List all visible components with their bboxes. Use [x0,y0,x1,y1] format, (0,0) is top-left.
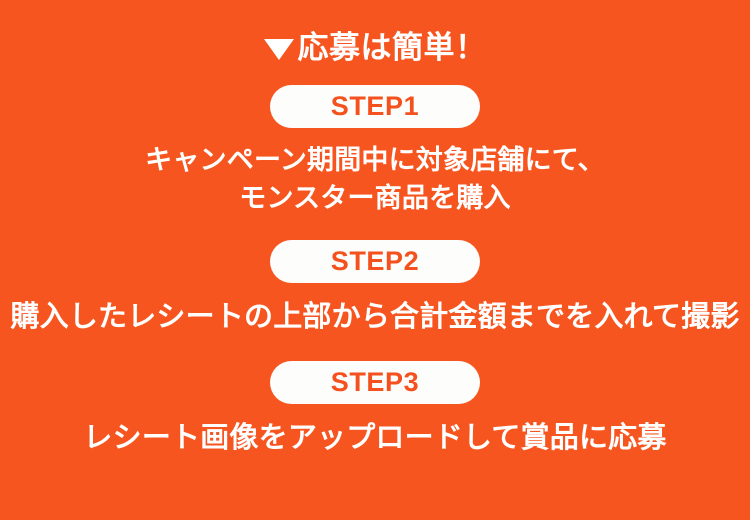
step-description-1: キャンペーン期間中に対象店舗にて、 モンスター商品を購入 [145,141,605,218]
step-description-2-line-1: 購入したレシートの上部から合計金額までを入れて撮影 [10,297,739,338]
page-heading-text: 応募は簡単！ [298,32,487,63]
step-block-2: STEP2 購入したレシートの上部から合計金額までを入れて撮影 [0,240,750,338]
page-heading: 応募は簡単！ [264,32,487,63]
step-description-3-line-1: レシート画像をアップロードして賞品に応募 [83,418,666,459]
step-badge-label-3: STEP3 [331,369,420,396]
step-block-3: STEP3 レシート画像をアップロードして賞品に応募 [0,361,750,459]
step-block-1: STEP1 キャンペーン期間中に対象店舗にて、 モンスター商品を購入 [0,85,750,218]
step-badge-label-1: STEP1 [331,93,420,120]
step-description-2: 購入したレシートの上部から合計金額までを入れて撮影 [10,297,739,338]
step-description-1-line-1: キャンペーン期間中に対象店舗にて、 [145,141,605,179]
step-description-1-line-2: モンスター商品を購入 [145,179,605,217]
step-badge-3: STEP3 [270,361,480,404]
step-description-3: レシート画像をアップロードして賞品に応募 [83,418,666,459]
step-badge-label-2: STEP2 [331,248,420,275]
triangle-down-icon [264,39,294,60]
campaign-steps-poster: 応募は簡単！ STEP1 キャンペーン期間中に対象店舗にて、 モンスター商品を購… [0,0,750,520]
step-badge-2: STEP2 [270,240,480,283]
step-badge-1: STEP1 [270,85,480,128]
